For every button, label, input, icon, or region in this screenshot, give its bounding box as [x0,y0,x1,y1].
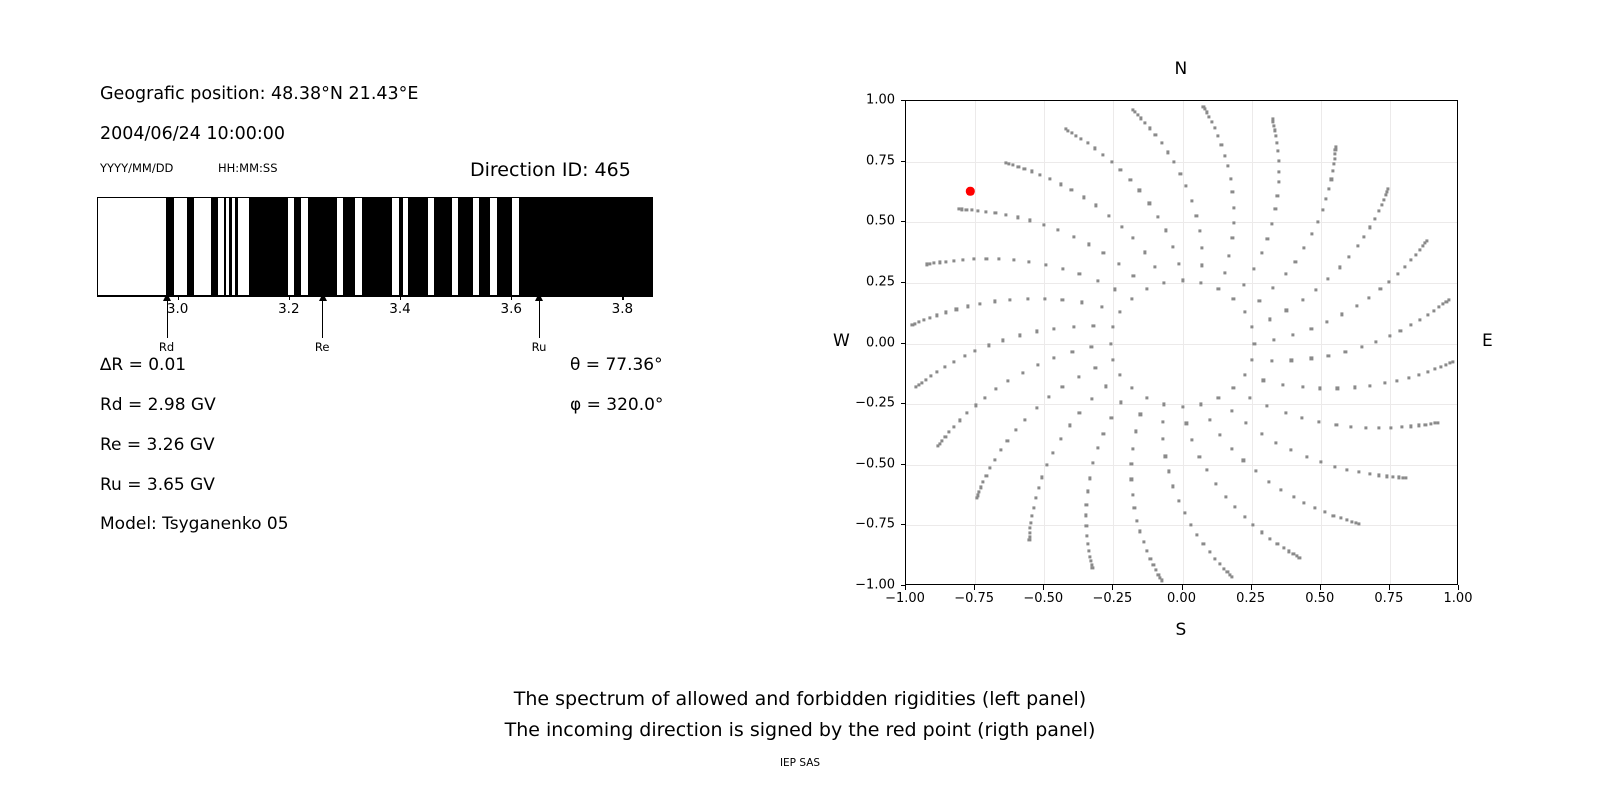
arrow-head-icon [535,293,543,301]
param-phi: φ = 320.0° [570,395,663,415]
asymptotic-direction-panel: −1.00−0.75−0.50−0.250.000.250.500.751.00… [780,0,1600,680]
x-axis-tick [1182,585,1183,590]
caption-line-1: The spectrum of allowed and forbidden ri… [0,688,1600,710]
x-axis-tick [905,585,906,590]
y-axis-tick-label: 0.75 [843,153,895,168]
x-axis-tick [1251,585,1252,590]
param-rd: Rd = 2.98 GV [100,395,216,415]
x-axis-tick-label: 1.00 [1444,591,1473,606]
arrow-shaft [539,300,540,338]
x-axis-tick-label: −1.00 [885,591,925,606]
arrow-label: Rd [159,340,174,354]
x-axis-tick [974,585,975,590]
y-axis-tick-label: 0.00 [843,335,895,350]
x-axis-tick-label: −0.75 [954,591,994,606]
y-axis-tick [901,464,906,465]
x-axis-tick [1458,585,1459,590]
x-axis-tick [1320,585,1321,590]
y-axis-tick [901,524,906,525]
arrow-shaft [322,300,323,338]
caption-line-2: The incoming direction is signed by the … [0,719,1600,741]
x-axis-tick-label: −0.25 [1092,591,1132,606]
x-axis-tick-label: 0.50 [1305,591,1334,606]
x-axis-tick-label: −0.50 [1023,591,1063,606]
y-axis-tick [901,221,906,222]
arrow-head-icon [163,293,171,301]
y-axis-tick [901,282,906,283]
arrow-label: Re [315,340,330,354]
arrow-head-icon [319,293,327,301]
compass-label-north: N [1175,59,1188,79]
y-axis-tick-label: −0.75 [843,517,895,532]
x-axis-tick-label: 0.75 [1374,591,1403,606]
rigidity-spectrum-panel: Geografic position: 48.38°N 21.43°E 2004… [0,0,760,660]
y-axis-tick [901,161,906,162]
y-axis-tick [901,100,906,101]
compass-label-south: S [1176,620,1187,640]
param-model: Model: Tsyganenko 05 [100,514,289,534]
x-axis-tick [1043,585,1044,590]
param-delta-r: ∆R = 0.01 [100,355,186,375]
arrow-shaft [167,300,168,338]
y-axis-tick-label: 0.25 [843,274,895,289]
scatter-axis-decorations: −1.00−0.75−0.50−0.250.000.250.500.751.00… [780,0,1600,680]
x-axis-tick-label: 0.00 [1167,591,1196,606]
y-axis-tick-label: −0.25 [843,396,895,411]
rigidity-marker-arrows: RdReRu [0,0,760,360]
y-axis-tick [901,343,906,344]
y-axis-tick-label: 1.00 [843,93,895,108]
arrow-label: Ru [532,340,547,354]
compass-label-west: W [833,331,850,351]
compass-label-east: E [1482,331,1493,351]
x-axis-tick [1112,585,1113,590]
param-re: Re = 3.26 GV [100,435,215,455]
y-axis-tick-label: 0.50 [843,214,895,229]
x-axis-tick [1389,585,1390,590]
param-ru: Ru = 3.65 GV [100,475,215,495]
footer-attribution: IEP SAS [0,757,1600,769]
y-axis-tick [901,403,906,404]
x-axis-tick-label: 0.25 [1236,591,1265,606]
param-theta: θ = 77.36° [570,355,663,375]
y-axis-tick-label: −0.50 [843,456,895,471]
